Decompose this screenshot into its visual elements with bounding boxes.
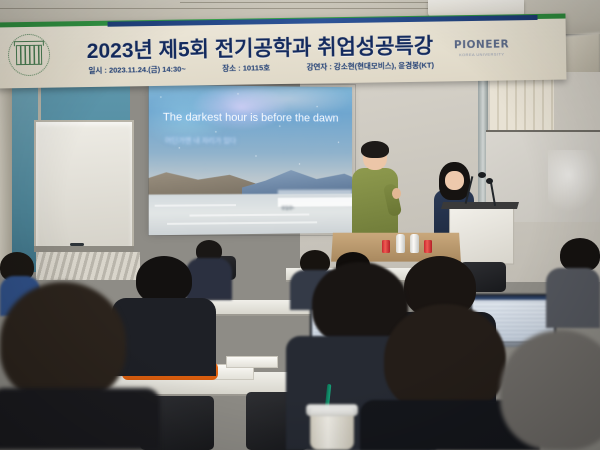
university-seal-glyph [16,45,42,65]
audience-head [136,256,192,304]
microphone-icon [486,178,493,184]
university-seal-icon [8,34,51,77]
audience-head-foreground [0,282,126,402]
audience-torso [546,268,600,328]
slide-subline: 어딘가엔 내 자리가 있다 [165,136,236,146]
wall-pillar [0,72,12,272]
speaker-female-head [445,171,464,190]
sponsor-logo-text: PIONEER [454,38,509,51]
slide-overlay-line [278,190,352,195]
banner-detail-location: 장소 : 10115호 [222,62,270,74]
sponsor-logo-subtext: KOREA UNIVERSITY [454,51,509,57]
audience-head-foreground [500,330,600,450]
banner-detail-speakers: 강연자 : 강소현(현대모비스), 윤경봉(KT) [306,60,434,73]
speaker-male-hand [392,188,401,199]
audience-torso-foreground [0,388,160,450]
coffee-cup-lid [306,404,358,416]
audience-torso [112,298,216,376]
microphone-icon [478,172,486,178]
sponsor-logo: PIONEER KOREA UNIVERSITY [454,38,510,57]
water-bottle [396,234,405,253]
whiteboard-right-glare [548,150,600,212]
whiteboard-left [34,120,134,248]
water-bottle [410,234,419,253]
audience-head [560,238,600,272]
slide-headline: The darkest hour is before the dawn [148,111,352,124]
speaker-male [352,144,398,240]
event-banner: 2023년 제5회 전기공학과 취업성공특강 일시 : 2023.11.24.(… [0,14,566,89]
whiteboard-marker [70,243,84,246]
red-can [382,240,390,253]
radiator [36,252,140,280]
lecture-hall-screenshot: The darkest hour is before the dawn 어딘가엔… [0,0,600,450]
audience-head-foreground [384,304,506,414]
ceiling-seam [180,2,440,3]
slide-overlay-text: 010- [282,206,295,212]
ceiling-seam [0,8,430,9]
banner-detail-datetime: 일시 : 2023.11.24.(금) 14:30~ [88,63,185,76]
projection-screen: The darkest hour is before the dawn 어딘가엔… [148,85,352,236]
podium-top-surface [441,202,519,209]
paper-stack [226,356,278,368]
speaker-male-hair [361,141,389,158]
audience-torso [186,258,232,300]
red-can [424,240,432,253]
laptop-app-titlebar [472,296,554,300]
